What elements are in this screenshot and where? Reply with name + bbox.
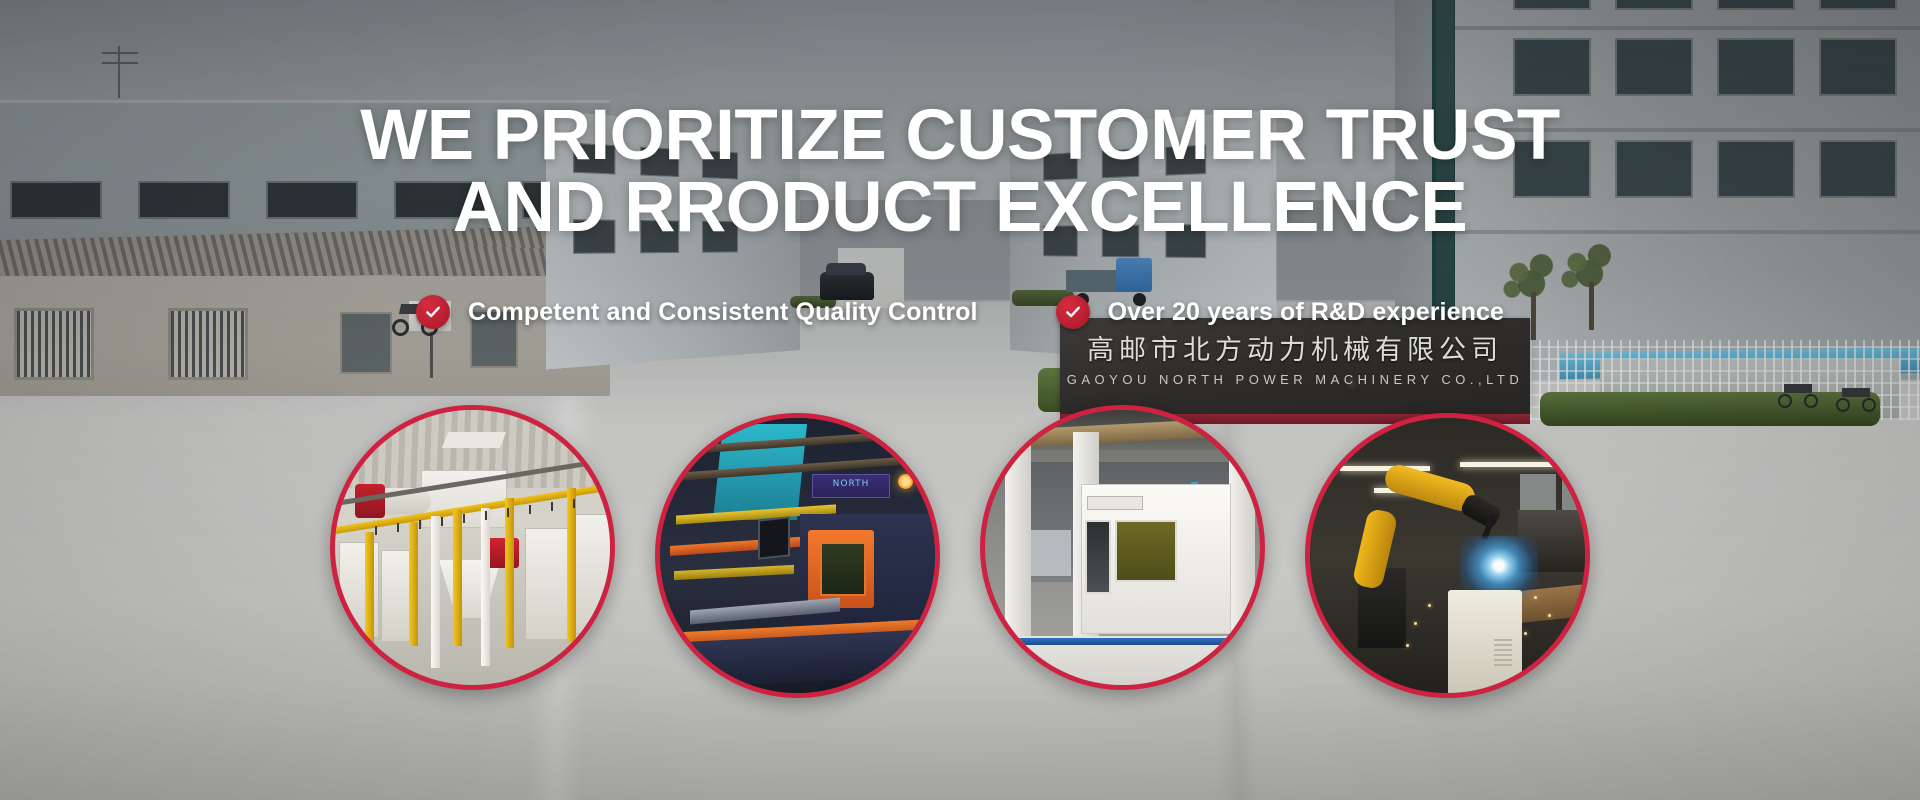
company-name-chinese: 高邮市北方动力机械有限公司 bbox=[1060, 328, 1530, 367]
facility-thumbnail-row: NORTH bbox=[0, 405, 1920, 698]
check-circle-icon bbox=[1056, 295, 1090, 329]
feature-bullet-label: Competent and Consistent Quality Control bbox=[468, 298, 978, 327]
thumbnail-cnc-machining-center[interactable] bbox=[980, 405, 1265, 690]
laser-machine-panel: NORTH bbox=[812, 474, 890, 498]
ac-pipe bbox=[430, 332, 433, 378]
feature-bullet-quality-control: Competent and Consistent Quality Control bbox=[416, 295, 978, 329]
robotic-welding-cell-image bbox=[1310, 418, 1585, 693]
signal-lamp-icon bbox=[898, 474, 913, 489]
laser-cutting-machine-image: NORTH bbox=[660, 418, 935, 693]
thumbnail-robotic-welding-cell[interactable] bbox=[1305, 413, 1590, 698]
cnc-machining-center-image bbox=[985, 410, 1260, 685]
warehouse-window-row bbox=[10, 181, 590, 219]
laser-machine-panel-text: NORTH bbox=[813, 479, 889, 489]
corridor-building-left bbox=[546, 111, 800, 370]
feature-bullet-rd-experience: Over 20 years of R&D experience bbox=[1056, 295, 1504, 329]
roof-antenna bbox=[118, 46, 120, 98]
company-name-english: GAOYOU NORTH POWER MACHINERY CO.,LTD bbox=[1060, 372, 1530, 387]
thumbnail-powder-coating-line[interactable] bbox=[330, 405, 615, 690]
powder-coating-line-image bbox=[335, 410, 610, 685]
thumbnail-laser-cutting-machine[interactable]: NORTH bbox=[655, 413, 940, 698]
feature-bullet-list: Competent and Consistent Quality Control… bbox=[0, 295, 1920, 329]
hero-banner: 高邮市北方动力机械有限公司 GAOYOU NORTH POWER MACHINE… bbox=[0, 0, 1920, 800]
check-circle-icon bbox=[416, 295, 450, 329]
company-sign-wall: 高邮市北方动力机械有限公司 GAOYOU NORTH POWER MACHINE… bbox=[1060, 318, 1530, 414]
feature-bullet-label: Over 20 years of R&D experience bbox=[1108, 298, 1504, 327]
